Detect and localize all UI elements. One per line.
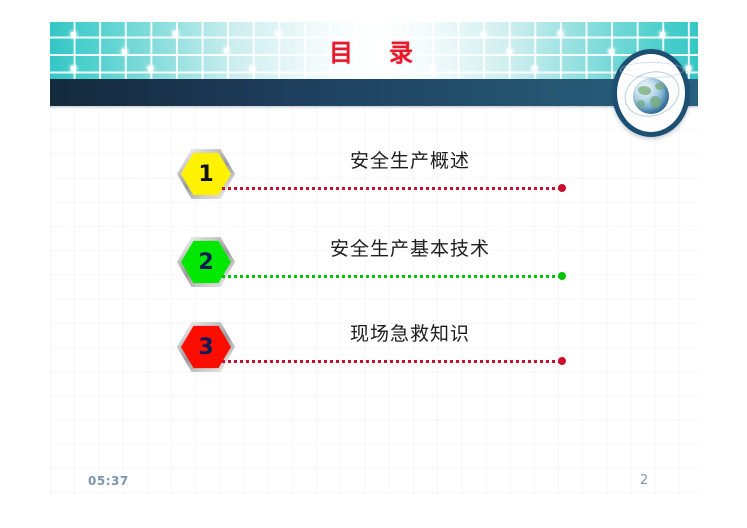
toc-row[interactable]: 3 现场急救知识 (0, 313, 747, 383)
toc-item-label: 安全生产基本技术 (250, 234, 570, 261)
page-title: 目 录 (50, 22, 698, 79)
toc-item-label: 现场急救知识 (250, 319, 570, 346)
toc-number: 3 (177, 321, 235, 373)
toc-leader-line (222, 275, 560, 278)
globe-landmass (638, 86, 651, 95)
toc-item-label: 安全生产概述 (250, 146, 570, 173)
globe-landmass (637, 100, 645, 107)
toc-number: 2 (177, 236, 235, 288)
toc-leader-line (222, 187, 560, 190)
toc-leader-end-dot (558, 272, 566, 280)
globe-icon (612, 49, 690, 137)
toc-number-hexagon[interactable]: 3 (177, 321, 235, 373)
toc-number-hexagon[interactable]: 1 (177, 148, 235, 200)
toc-row[interactable]: 2 安全生产基本技术 (0, 228, 747, 298)
toc-leader-line (222, 360, 560, 363)
header-grid-band: 目 录 (50, 22, 698, 79)
footer-time: 05:37 (88, 474, 129, 488)
footer-page-number: 2 (640, 473, 648, 488)
header-accent-bar (50, 79, 698, 106)
toc-number: 1 (177, 148, 235, 200)
slide-canvas: 目 录 1 安全生产概述 2 安全生产基本技术 (0, 0, 747, 528)
globe-landmass (650, 96, 661, 108)
header-bar-shadow (50, 106, 698, 109)
globe-sphere (633, 78, 669, 114)
toc-row[interactable]: 1 安全生产概述 (0, 140, 747, 210)
slide-header: 目 录 (50, 22, 698, 106)
toc-number-hexagon[interactable]: 2 (177, 236, 235, 288)
toc-leader-end-dot (558, 357, 566, 365)
globe-landmass (655, 83, 664, 90)
toc-leader-end-dot (558, 184, 566, 192)
